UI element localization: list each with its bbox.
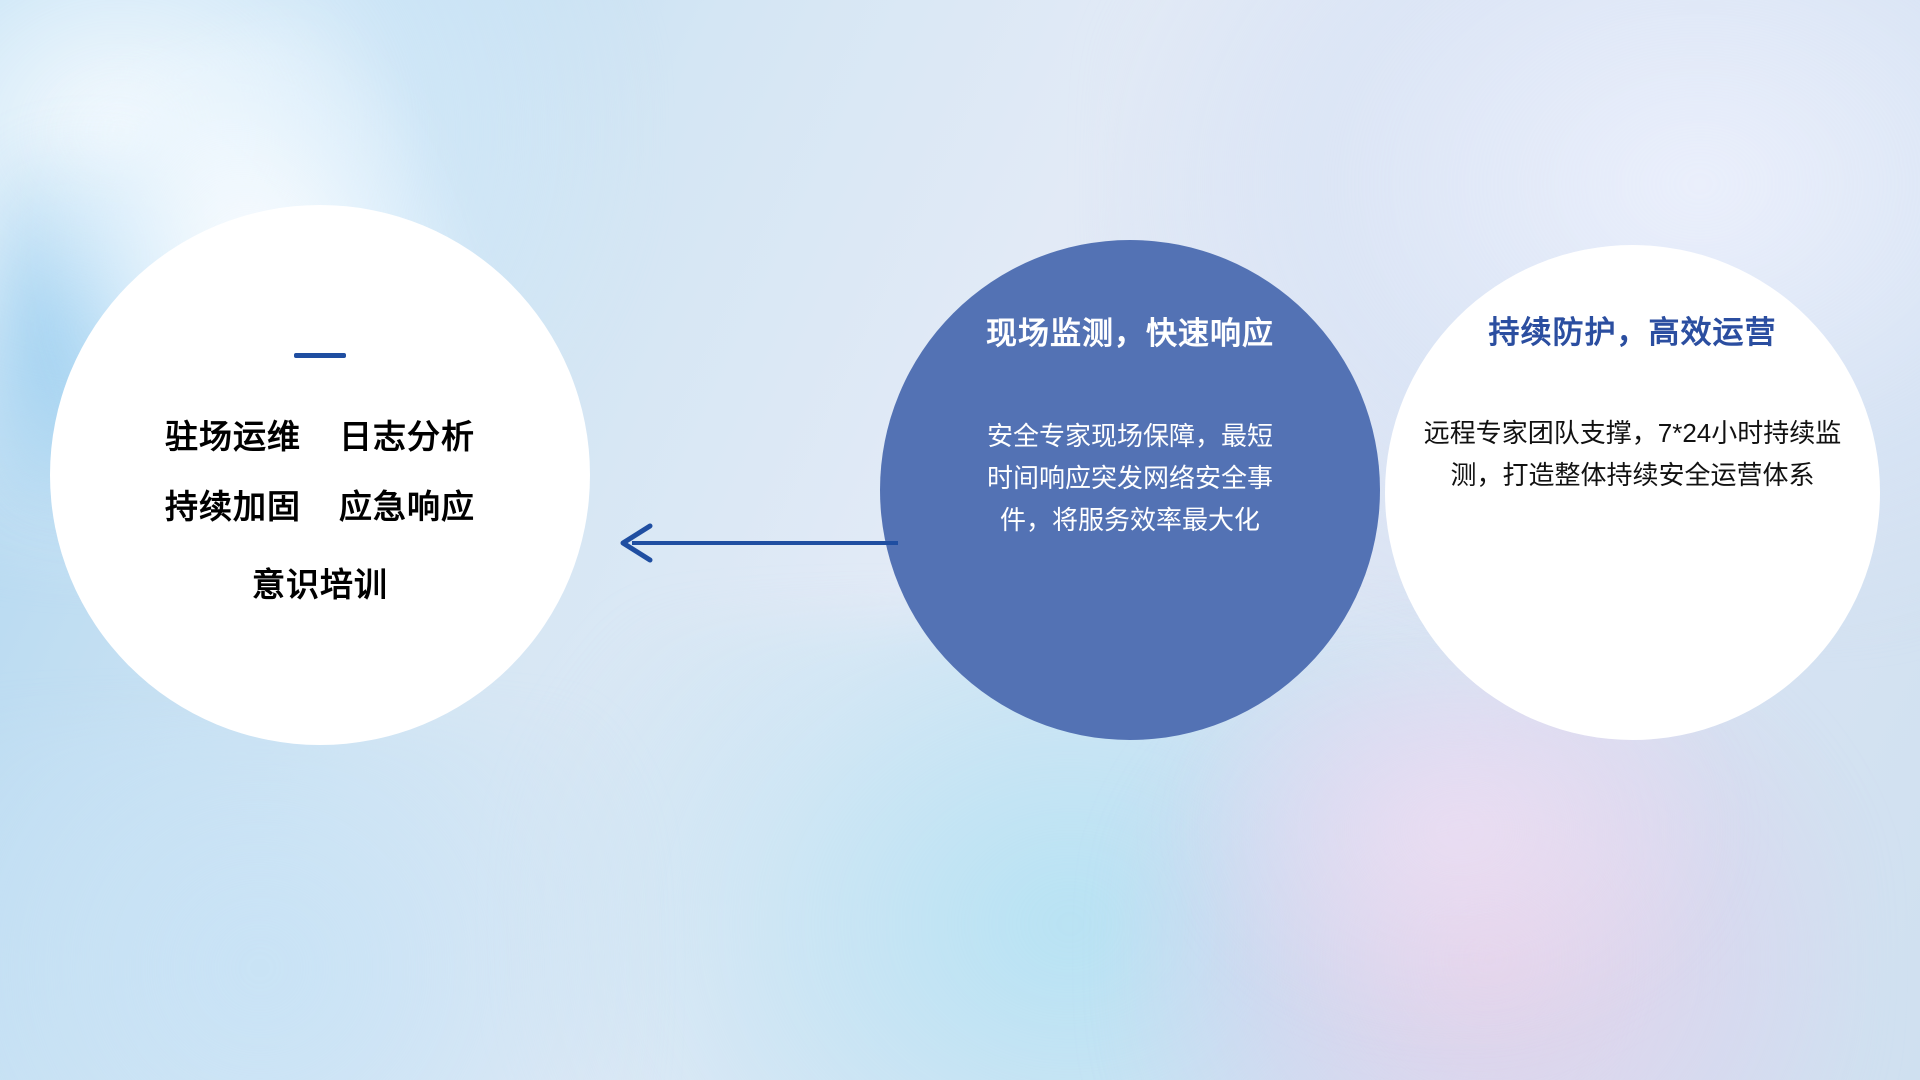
onsite-monitoring-title: 现场监测，快速响应 — [986, 308, 1274, 353]
slide-canvas: 驻场运维 日志分析 持续加固 应急响应 意识培训 现场监测，快速响应 安全专家现… — [0, 0, 1920, 1080]
keyword-row-2: 持续加固 应急响应 — [165, 480, 475, 528]
flow-arrow-left — [610, 518, 900, 568]
onsite-monitoring-body: 安全专家现场保障，最短时间响应突发网络安全事件，将服务效率最大化 — [980, 415, 1280, 541]
keyword-row-3: 意识培训 — [252, 558, 388, 606]
keyword-onsite-ops: 驻场运维 — [165, 410, 301, 458]
keyword-row-1: 驻场运维 日志分析 — [165, 410, 475, 458]
continuous-protection-body: 远程专家团队支撑，7*24小时持续监测，打造整体持续安全运营体系 — [1423, 412, 1843, 496]
onsite-monitoring-circle-content: 现场监测，快速响应 安全专家现场保障，最短时间响应突发网络安全事件，将服务效率最… — [880, 240, 1380, 740]
flow-arrow-icon — [610, 518, 900, 568]
background-glow-bottom-left — [0, 720, 640, 1080]
keyword-awareness-training: 意识培训 — [252, 558, 388, 606]
continuous-protection-circle-content: 持续防护，高效运营 远程专家团队支撑，7*24小时持续监测，打造整体持续安全运营… — [1385, 245, 1880, 740]
keyword-emergency-response: 应急响应 — [339, 480, 475, 528]
title-divider-line — [294, 353, 346, 358]
capabilities-circle-content: 驻场运维 日志分析 持续加固 应急响应 意识培训 — [50, 205, 590, 745]
keyword-continuous-hardening: 持续加固 — [165, 480, 301, 528]
continuous-protection-title: 持续防护，高效运营 — [1489, 307, 1777, 352]
keyword-log-analysis: 日志分析 — [339, 410, 475, 458]
